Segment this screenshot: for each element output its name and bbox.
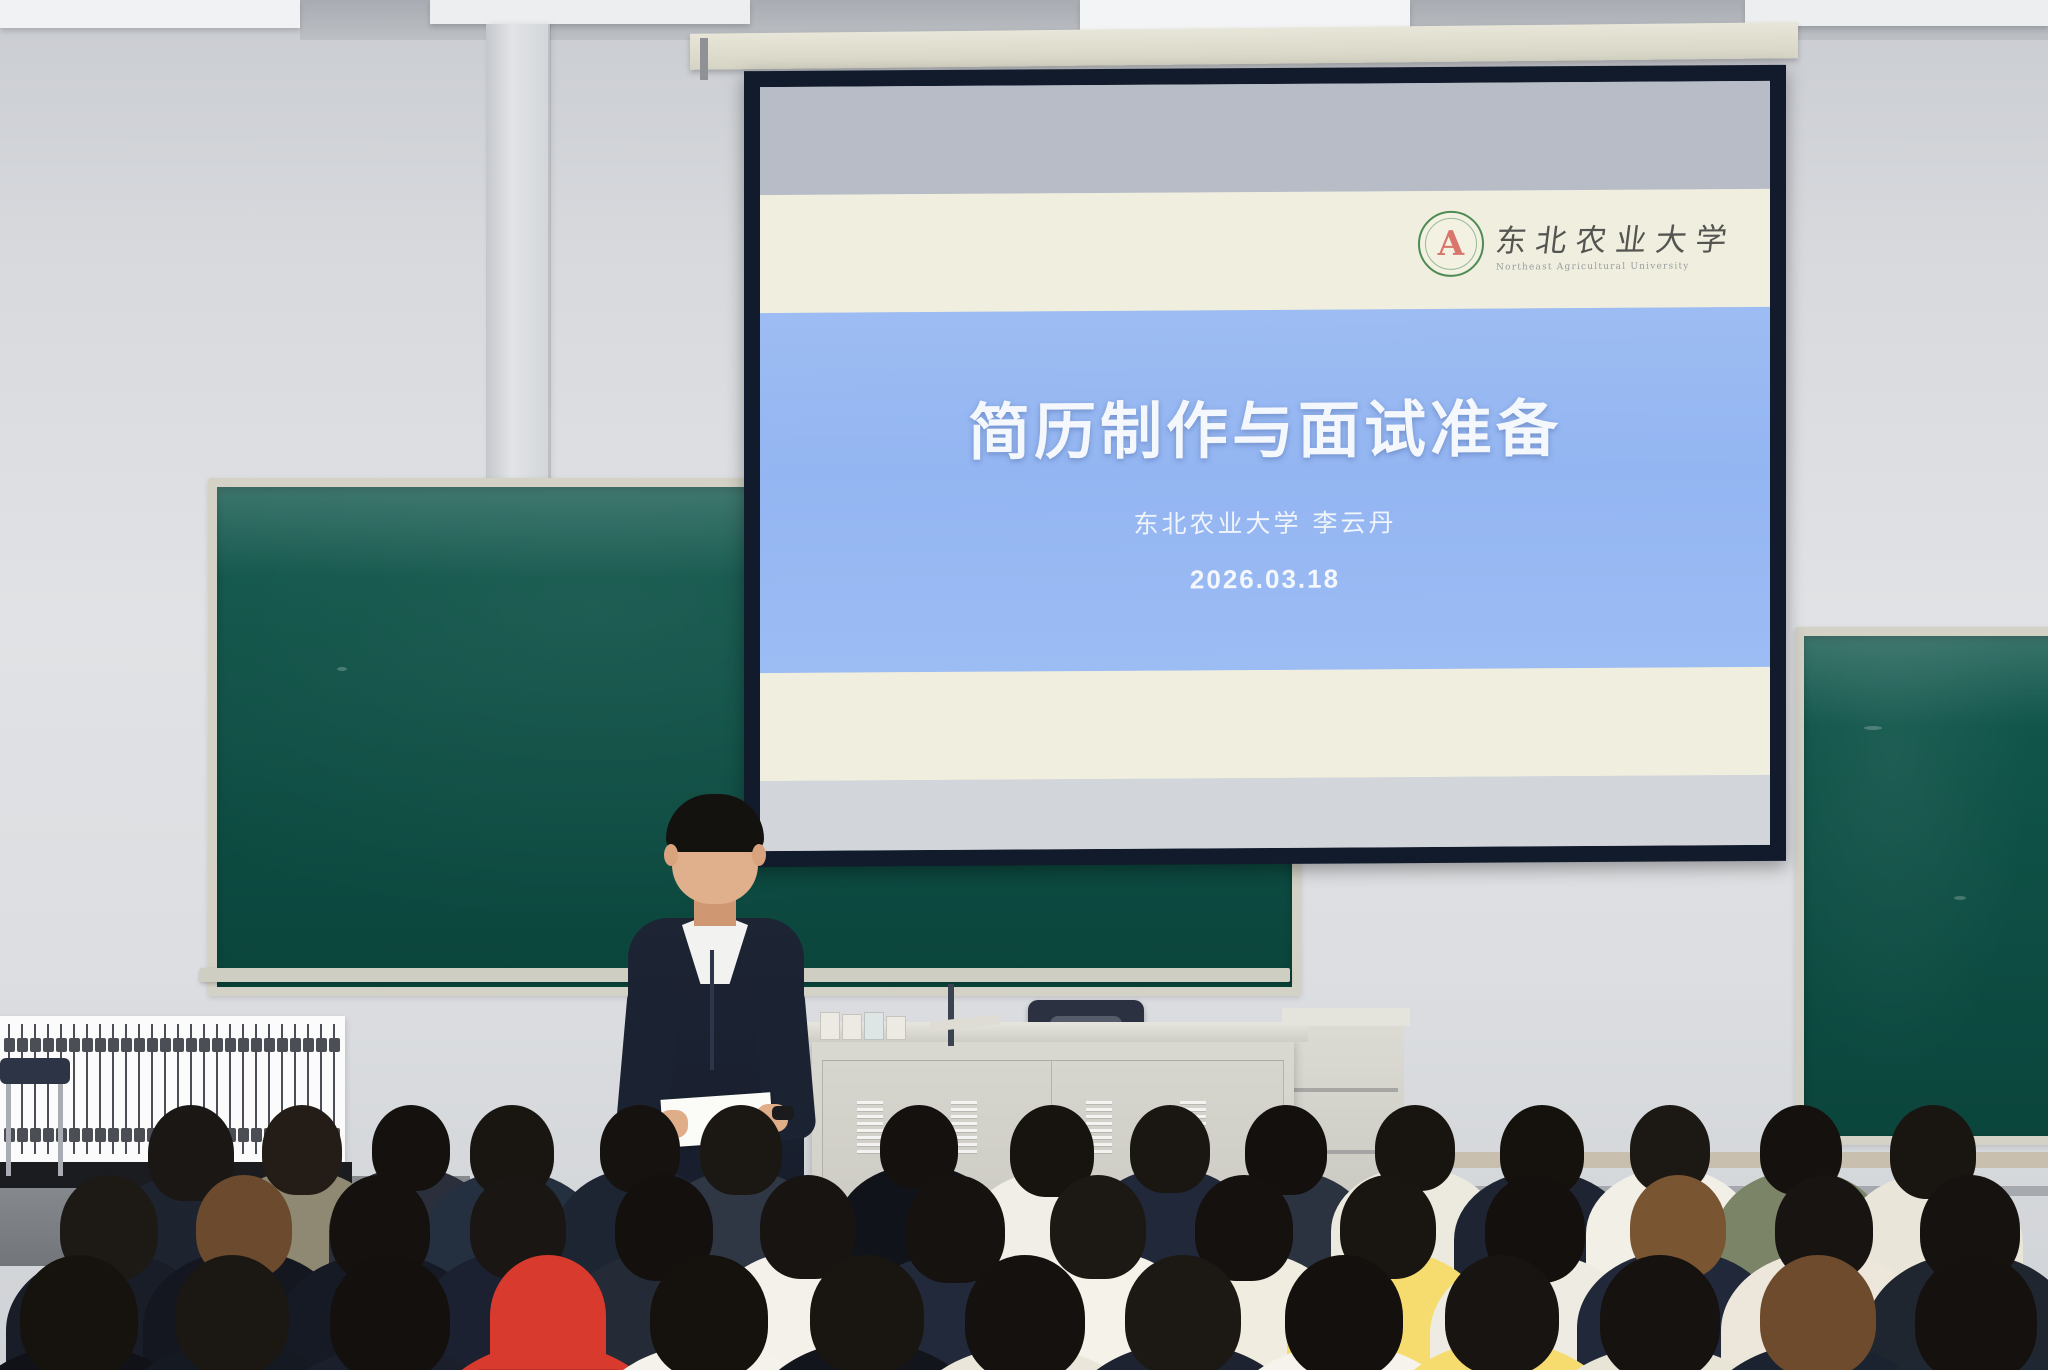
radiator-fin-cap [95,1038,106,1052]
red-cap-icon [490,1255,606,1370]
jacket-zipper [710,950,714,1070]
cabinet-shelf [1294,1088,1398,1092]
audience-head [330,1255,450,1370]
audience-head [1760,1255,1876,1370]
audience-head [965,1255,1085,1370]
radiator-fin-cap [303,1038,314,1052]
radiator-fin-cap [108,1038,119,1052]
university-name-cn: 东北农业大学 [1493,214,1739,260]
audience-head [20,1255,138,1370]
radiator-fin-cap [82,1038,93,1052]
podium-desk-items [820,1012,940,1040]
ceiling-panel-1 [0,0,300,28]
audience-head [1050,1175,1146,1279]
radiator-fin-cap [56,1038,67,1052]
audience-head [810,1255,924,1370]
radiator-fin-cap [17,1038,28,1052]
radiator-fin-cap [30,1038,41,1052]
lecture-hall-photo: A 东北农业大学 Northeast Agricultural Universi… [0,0,2048,1370]
presenter-ear [752,844,766,866]
audience-head [1130,1105,1210,1193]
screen-mount-bracket [700,38,708,80]
projected-slide: A 东北农业大学 Northeast Agricultural Universi… [760,81,1770,851]
slide-band-bottom [760,775,1770,851]
audience-head [700,1105,782,1195]
radiator-fin-cap [160,1038,171,1052]
slide-footer-band [760,667,1770,781]
university-logo: A 东北农业大学 Northeast Agricultural Universi… [1418,209,1736,277]
radiator-fin-cap [134,1038,145,1052]
slide-main-band [760,307,1770,673]
slide-date: 2026.03.18 [760,561,1770,598]
radiator-fin-cap [43,1038,54,1052]
radiator-fin-cap [290,1038,301,1052]
radiator-fin-cap [329,1038,340,1052]
presenter-ear [664,844,678,866]
university-name-en: Northeast Agricultural University [1496,261,1736,272]
audience-head [175,1255,289,1370]
slide-title: 简历制作与面试准备 [760,377,1770,473]
university-logo-text: 东北农业大学 Northeast Agricultural University [1496,214,1736,272]
audience-head [1600,1255,1720,1370]
radiator-fin-cap [251,1038,262,1052]
radiator-fin-cap [238,1038,249,1052]
chalk-smudge [1804,636,2048,726]
seal-letter-a: A [1438,227,1464,261]
ceiling-light-panel [1080,0,1410,30]
radiator-fin-cap [69,1038,80,1052]
ceiling-panel-2 [430,0,750,24]
university-seal-icon: A [1418,211,1484,277]
radiator-fin-cap [277,1038,288,1052]
radiator-fin-cap [173,1038,184,1052]
radiator-fin-cap [316,1038,327,1052]
slide-band-top [760,81,1770,195]
audience-head [1285,1255,1403,1370]
radiator-fin-cap [186,1038,197,1052]
pointer-rod [948,984,954,1046]
audience-head [262,1105,342,1195]
chalkboard-right [1795,627,2048,1145]
presenter-hair [666,794,764,852]
radiator-fin-cap [225,1038,236,1052]
radiator-fin-cap [212,1038,223,1052]
radiator-fin-cap [199,1038,210,1052]
radiator-fin-cap [4,1038,15,1052]
audience-head [1125,1255,1241,1370]
radiator-fin-cap [147,1038,158,1052]
projector-screen-frame: A 东北农业大学 Northeast Agricultural Universi… [744,65,1786,867]
radiator-fin-cap [264,1038,275,1052]
radiator-fin-cap [121,1038,132,1052]
audience-head [650,1255,768,1370]
slide-subtitle: 东北农业大学 李云丹 [760,501,1770,543]
student-audience [0,1105,2048,1370]
audience-head [1445,1255,1559,1370]
